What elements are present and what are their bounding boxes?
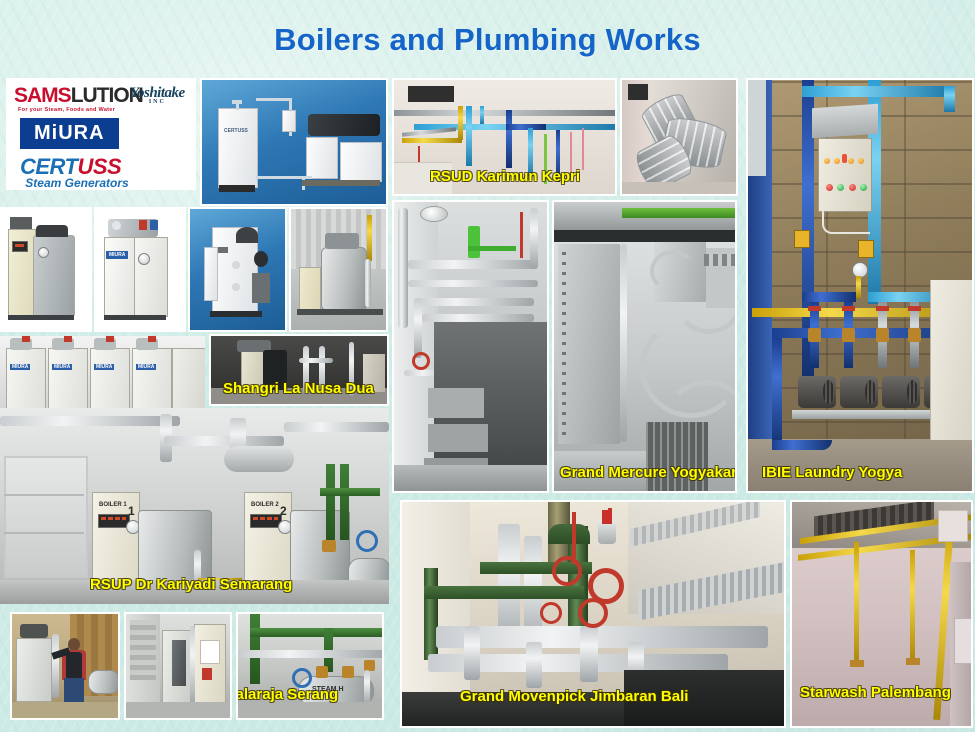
boiler-1-number: 1 xyxy=(128,504,135,518)
pump-unit xyxy=(798,376,836,408)
steam-tank-label: STEAM H xyxy=(312,686,344,693)
photo-duct-elbow xyxy=(620,78,738,196)
pump-unit xyxy=(882,376,920,408)
photo-rsup-boiler-bank: MIURA MIURA MIURA MIURA xyxy=(0,336,205,408)
photo-grand-movenpick: Grand Movenpick Jimbaran Bali xyxy=(400,500,786,728)
brand-logos-panel: SAMSLUTION For your Steam, Foods and Wat… xyxy=(6,78,196,190)
boiler-2-label: BOILER 2 xyxy=(251,502,279,508)
photo-ibie-laundry-yogya: IBIE Laundry Yogya xyxy=(746,78,974,493)
photo-starwash-palembang: Starwash Palembang xyxy=(790,500,973,728)
photo-boiler-product-1 xyxy=(0,207,92,332)
photo-boiler-product-3 xyxy=(188,207,287,332)
samsolution-logo: SAMSLUTION xyxy=(14,84,143,108)
page-title: Boilers and Plumbing Works xyxy=(0,22,975,58)
miura-logo: MiURA xyxy=(20,118,119,149)
photo-feed-mill-3: STEAM H Feed Mill process New Hope Balar… xyxy=(236,612,384,720)
miura-logo-text: MiURA xyxy=(34,122,105,144)
photo-shangri-la-nusa-dua: Shangri La Nusa Dua xyxy=(209,334,389,406)
control-panel xyxy=(818,138,872,212)
photo-grand-mercure-right: Grand Mercure Yogyakarta xyxy=(552,200,737,493)
yoshitake-logo: Yoshitake INC xyxy=(130,85,185,105)
photo-feed-mill-1 xyxy=(10,612,120,720)
photo-boiler-product-2: MIURA xyxy=(94,207,186,332)
slide-canvas: Boilers and Plumbing Works SAMSLUTION Fo… xyxy=(0,0,975,732)
samsolution-tagline: For your Steam, Foods and Water xyxy=(18,107,115,113)
photo-feed-mill-2 xyxy=(124,612,232,720)
photo-grand-mercure-left xyxy=(392,200,549,493)
photo-rsud-karimun-kepri: RSUD Karimun Kepri xyxy=(392,78,617,196)
samsolution-logo-text-a: SAMS xyxy=(14,84,71,107)
pump-unit xyxy=(840,376,878,408)
photo-certuss-unit: CERTUSS xyxy=(200,78,388,206)
photo-rsup-dr-kariyadi: BOILER 1 1 BOILER 2 2 RSUP Dr Kariyadi S… xyxy=(0,408,389,604)
photo-boiler-product-4 xyxy=(289,207,388,332)
boiler-1-label: BOILER 1 xyxy=(99,502,127,508)
certuss-logo-sub: Steam Generators xyxy=(22,176,132,190)
boiler-2-number: 2 xyxy=(280,504,287,518)
